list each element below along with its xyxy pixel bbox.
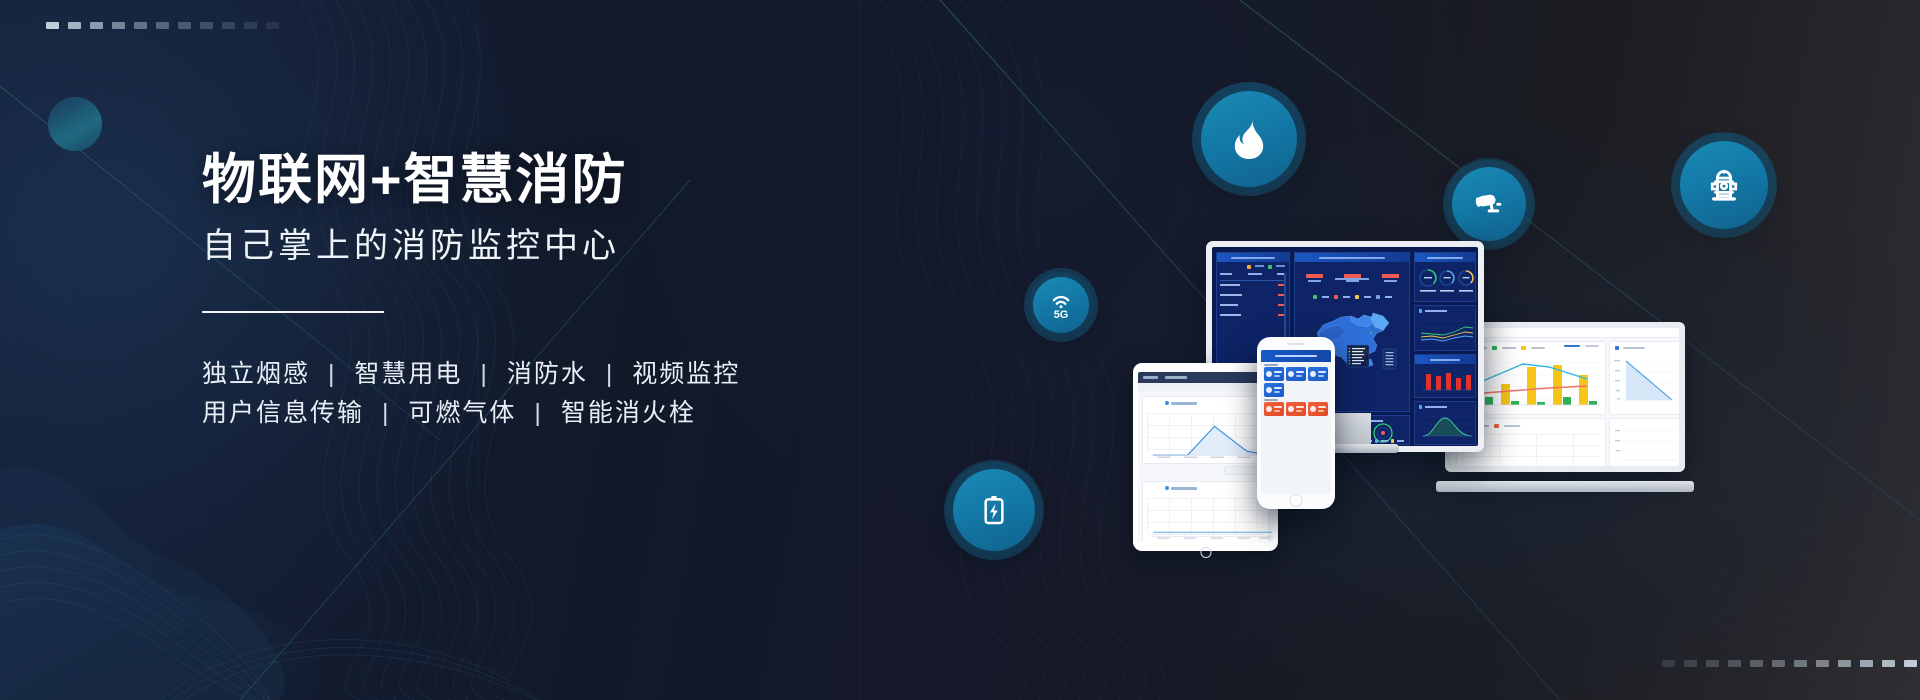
phone-tile[interactable]: [1308, 367, 1328, 381]
title-divider: [202, 311, 384, 313]
tablet-line-chart: [1147, 413, 1273, 459]
five-g-label: 5G: [1054, 309, 1069, 321]
legend-swatch: [1615, 346, 1619, 350]
feature-separator: |: [319, 355, 346, 394]
badge-core: [1201, 91, 1297, 187]
phone-tile[interactable]: [1286, 367, 1306, 381]
panel-header: [1415, 253, 1475, 262]
laptop-screen: [1451, 328, 1679, 466]
page-subtitle: 自己掌上的消防监控中心: [202, 226, 962, 267]
bar-chart: [1415, 366, 1477, 398]
tile-icon: [1266, 371, 1272, 377]
laptop-small-chart-card: [1609, 418, 1679, 466]
feature-item: 独立烟感: [202, 360, 310, 388]
feature-item: 可燃气体: [408, 399, 516, 427]
tile-icon: [1266, 387, 1272, 393]
feature-line-1: 独立烟感 | 智慧用电 | 消防水 | 视频监控: [202, 355, 962, 394]
legend-swatch: [1494, 424, 1499, 428]
panel-header: [1415, 355, 1475, 364]
panel-header: [1217, 253, 1289, 262]
fire-hydrant-icon: [1702, 163, 1746, 207]
phone-home-button[interactable]: [1290, 494, 1303, 507]
trend-chart: [1415, 315, 1477, 349]
map-legend-box: [1383, 349, 1396, 369]
tablet-screen: [1138, 372, 1273, 542]
feature-item: 消防水: [507, 360, 588, 388]
laptop-small-chart: [1610, 423, 1679, 466]
panel-header: [1295, 253, 1409, 262]
laptop-area-chart-card: [1609, 341, 1679, 415]
card-title: [1171, 402, 1197, 405]
hydrant-icon-badge[interactable]: [1672, 133, 1776, 237]
phone-blue-tile-grid: [1261, 367, 1331, 397]
feature-separator: |: [525, 394, 552, 433]
card-bullet-icon: [1165, 486, 1169, 490]
feature-item: 智能消火栓: [561, 399, 696, 427]
tile-icon: [1288, 406, 1294, 412]
device-mockup-cluster: [1120, 280, 1740, 580]
tablet-topbar: [1138, 372, 1273, 383]
feature-separator: |: [597, 355, 624, 394]
feature-item: 用户信息传输: [202, 399, 364, 427]
badge-core: [1452, 167, 1526, 241]
feature-separator: |: [471, 355, 498, 394]
badge-core: [953, 469, 1035, 551]
laptop-area-chart: [1610, 353, 1679, 411]
area-chart: [1415, 411, 1477, 443]
feature-separator: |: [373, 394, 400, 433]
fiveg-icon-badge[interactable]: 5G: [1028, 272, 1094, 338]
phone-tile[interactable]: [1308, 402, 1328, 416]
trend-chart-panel: [1414, 305, 1476, 351]
battery-bolt-icon: [974, 490, 1014, 530]
feature-item: 智慧用电: [354, 360, 462, 388]
legend-swatch: [1492, 346, 1497, 350]
tablet-flat-chart: [1147, 498, 1273, 540]
phone-tile[interactable]: [1264, 383, 1284, 397]
tile-icon: [1310, 371, 1316, 377]
hero-copy: 物联网+智慧消防 自己掌上的消防监控中心 独立烟感 | 智慧用电 | 消防水 |…: [202, 150, 962, 433]
bottom-left-blob: [0, 524, 311, 700]
feature-item: 视频监控: [632, 360, 740, 388]
badge-core: [1680, 141, 1768, 229]
camera-icon-badge[interactable]: [1445, 160, 1533, 248]
phone-app-header: [1261, 350, 1331, 362]
five-g-signal-icon: 5G: [1045, 289, 1077, 321]
decor-circle: [48, 97, 102, 151]
tile-icon: [1266, 406, 1272, 412]
gauge-row: [1415, 264, 1477, 302]
legend-swatch: [1521, 346, 1526, 350]
tablet-chart-card-1: [1142, 396, 1269, 464]
gauge-panel: [1414, 252, 1476, 302]
bar-chart-panel: [1414, 354, 1476, 398]
page-title: 物联网+智慧消防: [202, 150, 962, 210]
card-bullet-icon: [1165, 401, 1169, 405]
tile-icon: [1288, 371, 1294, 377]
map-tooltip: [1347, 345, 1369, 367]
cctv-camera-icon: [1470, 185, 1508, 223]
area-chart-panel: [1414, 401, 1476, 445]
card-title: [1171, 487, 1197, 490]
tablet-home-button[interactable]: [1200, 547, 1211, 558]
phone-tile[interactable]: [1264, 367, 1284, 381]
phone-speaker: [1287, 343, 1305, 345]
bottom-right-dash-row: [1662, 660, 1920, 667]
phone-tile[interactable]: [1286, 402, 1306, 416]
laptop-topbar: [1451, 328, 1679, 338]
phone-screen: [1261, 350, 1331, 494]
battery-icon-badge[interactable]: [946, 462, 1042, 558]
laptop-base: [1436, 481, 1694, 492]
hero-banner: 物联网+智慧消防 自己掌上的消防监控中心 独立烟感 | 智慧用电 | 消防水 |…: [0, 0, 1920, 700]
feature-line-2: 用户信息传输 | 可燃气体 | 智能消火栓: [202, 394, 962, 433]
phone-orange-tile-grid: [1261, 402, 1331, 416]
top-left-dash-row: [46, 22, 288, 29]
phone-tile[interactable]: [1264, 402, 1284, 416]
flame-icon: [1225, 115, 1273, 163]
badge-core: 5G: [1033, 277, 1089, 333]
tile-icon: [1310, 406, 1316, 412]
feature-list: 独立烟感 | 智慧用电 | 消防水 | 视频监控 用户信息传输 | 可燃气体 |…: [202, 355, 962, 433]
tablet-chart-card-2: [1142, 481, 1269, 542]
flame-icon-badge[interactable]: [1192, 82, 1306, 196]
phone-device: [1257, 337, 1335, 509]
